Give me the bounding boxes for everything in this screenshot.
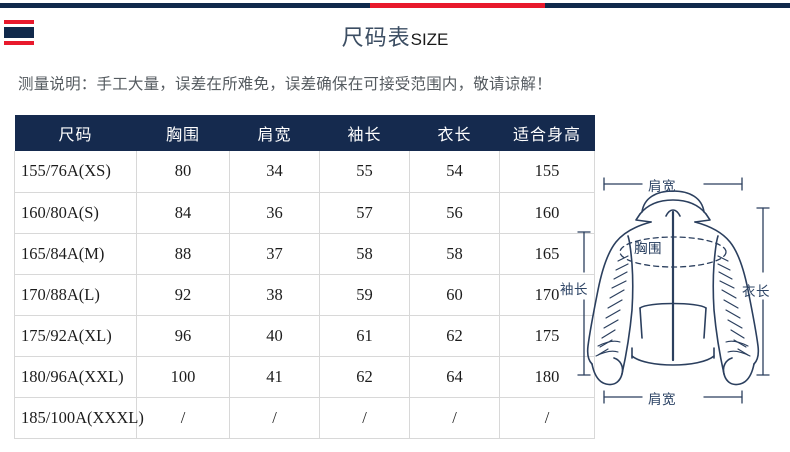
cell-shoulder: 41 xyxy=(230,356,320,397)
cell-length: 60 xyxy=(410,274,500,315)
top-stripe-red-segment xyxy=(370,3,545,8)
cell-length: 56 xyxy=(410,192,500,233)
cell-bust: / xyxy=(137,397,230,438)
cell-bust: 92 xyxy=(137,274,230,315)
table-row: 180/96A(XXL)100416264180 xyxy=(15,356,595,397)
cell-size: 155/76A(XS) xyxy=(15,151,137,192)
column-header-size: 尺码 xyxy=(15,115,137,151)
cell-length: 54 xyxy=(410,151,500,192)
cell-length: 64 xyxy=(410,356,500,397)
cell-shoulder: 34 xyxy=(230,151,320,192)
table-row: 165/84A(M)88375858165 xyxy=(15,233,595,274)
dimension-label-shoulder-top: 肩宽 xyxy=(648,175,676,195)
top-decorative-stripe xyxy=(0,3,790,8)
page-title-cn: 尺码表 xyxy=(342,26,411,51)
cell-bust: 100 xyxy=(137,356,230,397)
cell-length: / xyxy=(410,397,500,438)
cell-bust: 84 xyxy=(137,192,230,233)
page-title: 尺码表SIZE xyxy=(0,20,790,52)
measurement-note: 测量说明：手工大量，误差在所难免，误差确保在可接受范围内，敬请谅解！ xyxy=(18,72,552,94)
table-body: 155/76A(XS)80345554155160/80A(S)84365756… xyxy=(15,151,595,438)
dimension-label-shoulder-bottom: 肩宽 xyxy=(648,388,676,408)
column-header-sleeve: 袖长 xyxy=(320,115,410,151)
dimension-label-sleeve-length: 袖长 xyxy=(560,278,588,298)
page-title-en: SIZE xyxy=(411,30,449,49)
cell-size: 175/92A(XL) xyxy=(15,315,137,356)
cell-bust: 88 xyxy=(137,233,230,274)
table-row: 175/92A(XL)96406162175 xyxy=(15,315,595,356)
cell-length: 58 xyxy=(410,233,500,274)
cell-shoulder: 36 xyxy=(230,192,320,233)
cell-sleeve: 62 xyxy=(320,356,410,397)
table-row: 160/80A(S)84365756160 xyxy=(15,192,595,233)
column-header-bust: 胸围 xyxy=(137,115,230,151)
cell-shoulder: 40 xyxy=(230,315,320,356)
column-header-length: 衣长 xyxy=(410,115,500,151)
cell-shoulder: / xyxy=(230,397,320,438)
column-header-shoulder: 肩宽 xyxy=(230,115,320,151)
cell-sleeve: 57 xyxy=(320,192,410,233)
garment-diagram: 肩宽 肩宽 袖长 衣长 胸围 xyxy=(556,160,790,425)
cell-length: 62 xyxy=(410,315,500,356)
cell-shoulder: 37 xyxy=(230,233,320,274)
cell-size: 180/96A(XXL) xyxy=(15,356,137,397)
cell-sleeve: / xyxy=(320,397,410,438)
dimension-label-body-length: 衣长 xyxy=(742,280,770,300)
cell-sleeve: 55 xyxy=(320,151,410,192)
column-header-height: 适合身高 xyxy=(500,115,595,151)
table-row: 185/100A(XXXL)///// xyxy=(15,397,595,438)
cell-bust: 96 xyxy=(137,315,230,356)
cell-sleeve: 61 xyxy=(320,315,410,356)
cell-size: 160/80A(S) xyxy=(15,192,137,233)
cell-shoulder: 38 xyxy=(230,274,320,315)
cell-sleeve: 59 xyxy=(320,274,410,315)
table-row: 170/88A(L)92385960170 xyxy=(15,274,595,315)
dimension-label-chest: 胸围 xyxy=(634,237,662,257)
table-header-row: 尺码 胸围 肩宽 袖长 衣长 适合身高 xyxy=(15,115,595,151)
cell-size: 165/84A(M) xyxy=(15,233,137,274)
cell-bust: 80 xyxy=(137,151,230,192)
size-chart-table: 尺码 胸围 肩宽 袖长 衣长 适合身高 155/76A(XS)803455541… xyxy=(14,115,595,439)
cell-sleeve: 58 xyxy=(320,233,410,274)
cell-size: 170/88A(L) xyxy=(15,274,137,315)
table-row: 155/76A(XS)80345554155 xyxy=(15,151,595,192)
cell-size: 185/100A(XXXL) xyxy=(15,397,137,438)
